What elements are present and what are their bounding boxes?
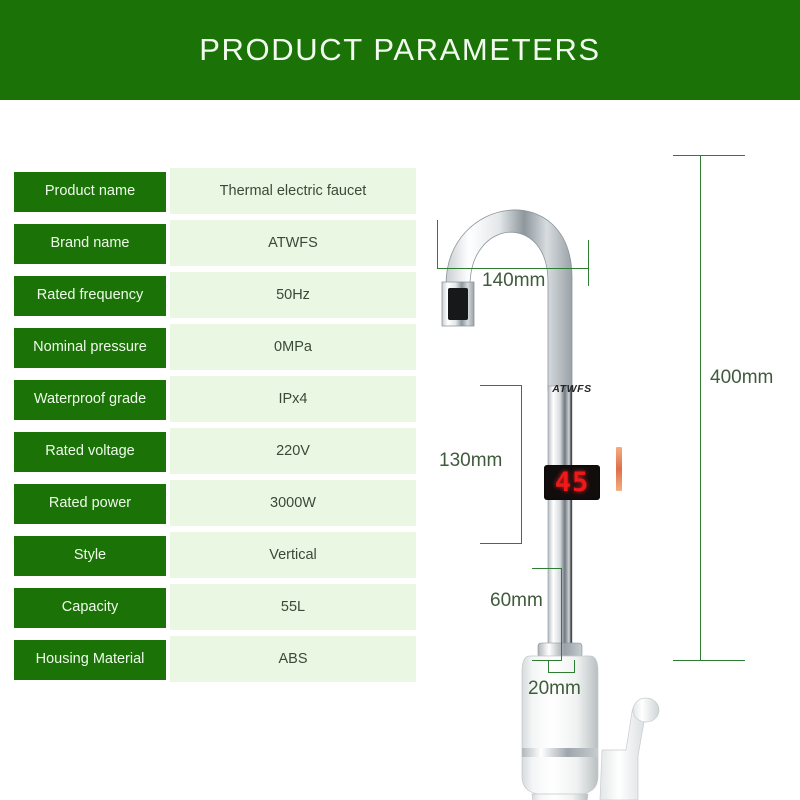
specification-table: Product name Thermal electric faucet Bra…	[0, 166, 420, 686]
table-row: Rated voltage 220V	[0, 426, 420, 478]
spec-label-capacity: Capacity	[14, 588, 166, 628]
dimension-tick-thread-right	[574, 660, 575, 672]
dimension-label-thread-diameter: 20mm	[528, 678, 581, 700]
table-row: Product name Thermal electric faucet	[0, 166, 420, 218]
dimension-line-thread-diameter	[548, 672, 575, 673]
temperature-indicator-strip	[616, 447, 622, 491]
product-parameters-page: PRODUCT PARAMETERS Product name Thermal …	[0, 0, 800, 800]
table-row: Rated frequency 50Hz	[0, 270, 420, 322]
table-row: Housing Material ABS	[0, 634, 420, 686]
dimension-tick-base-bottom	[532, 660, 562, 661]
spec-value-nominal-pressure: 0MPa	[170, 324, 416, 370]
page-header-banner: PRODUCT PARAMETERS	[0, 0, 800, 100]
dimension-label-body-height: 130mm	[439, 450, 502, 472]
spec-label-rated-frequency: Rated frequency	[14, 276, 166, 316]
dimension-tick-body-top	[480, 385, 522, 386]
dimension-label-spout-reach: 140mm	[482, 270, 545, 292]
spec-label-brand-name: Brand name	[14, 224, 166, 264]
spec-value-style: Vertical	[170, 532, 416, 578]
spec-label-nominal-pressure: Nominal pressure	[14, 328, 166, 368]
dimension-tick-spout-left	[437, 220, 438, 268]
spec-label-rated-power: Rated power	[14, 484, 166, 524]
spec-value-waterproof-grade: IPx4	[170, 376, 416, 422]
table-row: Nominal pressure 0MPa	[0, 322, 420, 374]
table-row: Style Vertical	[0, 530, 420, 582]
dimension-line-body-height	[521, 385, 522, 543]
spec-label-housing-material: Housing Material	[14, 640, 166, 680]
spec-value-rated-power: 3000W	[170, 480, 416, 526]
dimension-tick-total-bottom	[673, 660, 745, 661]
dimension-line-total-height	[700, 155, 701, 660]
spec-label-style: Style	[14, 536, 166, 576]
table-row: Waterproof grade IPx4	[0, 374, 420, 426]
spec-value-housing-material: ABS	[170, 636, 416, 682]
dimension-tick-total-top	[673, 155, 745, 156]
spec-value-brand-name: ATWFS	[170, 220, 416, 266]
spec-value-capacity: 55L	[170, 584, 416, 630]
dimension-tick-base-top	[532, 568, 562, 569]
dimension-tick-thread-left	[548, 660, 549, 672]
table-row: Capacity 55L	[0, 582, 420, 634]
dimension-tick-spout-right	[588, 240, 589, 286]
spec-value-rated-frequency: 50Hz	[170, 272, 416, 318]
product-brand-marking: ATWFS	[532, 383, 612, 395]
led-display-value: 45	[555, 469, 590, 496]
table-row: Rated power 3000W	[0, 478, 420, 530]
dimension-line-base-height	[561, 568, 562, 660]
dimension-label-total-height: 400mm	[710, 367, 773, 389]
spec-value-rated-voltage: 220V	[170, 428, 416, 474]
dimension-line-spout-reach	[437, 268, 589, 269]
led-temperature-display: 45	[544, 465, 600, 500]
dimension-tick-body-bottom	[480, 543, 522, 544]
spec-label-rated-voltage: Rated voltage	[14, 432, 166, 472]
spec-label-waterproof-grade: Waterproof grade	[14, 380, 166, 420]
table-row: Brand name ATWFS	[0, 218, 420, 270]
dimension-label-base-height: 60mm	[490, 590, 543, 612]
spec-label-product-name: Product name	[14, 172, 166, 212]
page-title: PRODUCT PARAMETERS	[199, 32, 600, 68]
spec-value-product-name: Thermal electric faucet	[170, 168, 416, 214]
product-dimension-diagram: ATWFS 45 140mm 400mm 130mm 60mm	[420, 100, 800, 800]
